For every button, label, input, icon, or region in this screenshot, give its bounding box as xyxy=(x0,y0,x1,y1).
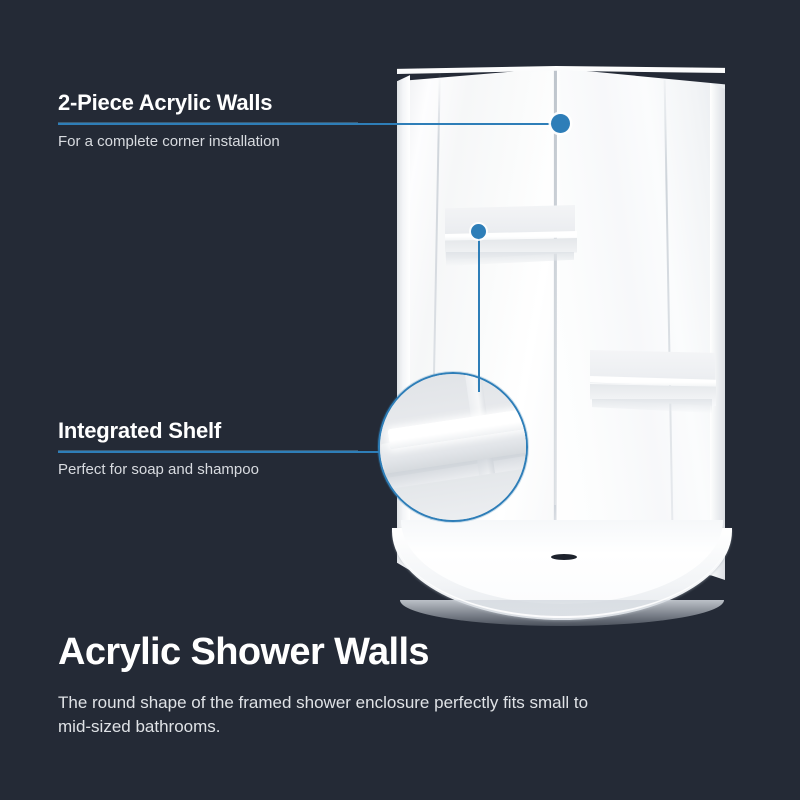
shower-enclosure xyxy=(380,20,740,620)
footer-body: The round shape of the framed shower enc… xyxy=(58,673,598,739)
integrated-shelf-lower xyxy=(590,350,715,410)
callout-dot-shelf xyxy=(471,224,486,239)
integrated-shelf-upper xyxy=(445,205,575,261)
callout-walls: 2-Piece Acrylic Walls For a complete cor… xyxy=(58,90,358,150)
acrylic-wall-panel-right xyxy=(555,68,725,580)
product-infographic: 2-Piece Acrylic Walls For a complete cor… xyxy=(0,0,800,800)
leader-line-walls xyxy=(58,123,560,125)
center-drain xyxy=(551,554,577,560)
shelf-zoom-bubble xyxy=(378,372,528,522)
callout-walls-subtitle: For a complete corner installation xyxy=(58,123,358,150)
corner-seam-highlight xyxy=(557,70,561,570)
leader-line-shelf-vertical xyxy=(478,232,480,392)
round-shower-base xyxy=(392,518,732,630)
callout-walls-title: 2-Piece Acrylic Walls xyxy=(58,90,358,116)
callout-shelf-subtitle: Perfect for soap and shampoo xyxy=(58,451,358,478)
callout-shelf-title: Integrated Shelf xyxy=(58,418,358,444)
callout-dot-walls xyxy=(551,114,570,133)
leader-line-shelf xyxy=(58,451,380,453)
wall-right-edge-trim xyxy=(710,83,725,580)
callout-shelf: Integrated Shelf Perfect for soap and sh… xyxy=(58,418,358,478)
product-illustration xyxy=(380,20,740,620)
footer-block: Acrylic Shower Walls The round shape of … xyxy=(58,632,698,739)
footer-title: Acrylic Shower Walls xyxy=(58,632,698,673)
